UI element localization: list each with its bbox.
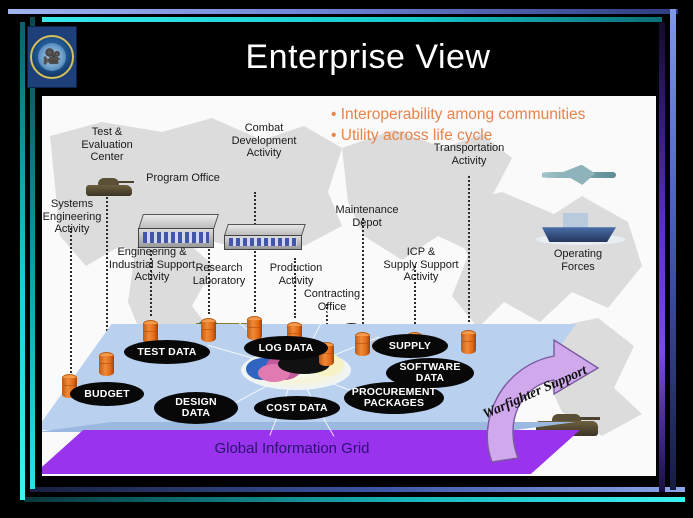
label-line: Center	[70, 151, 144, 164]
label-line: ICP &	[378, 246, 464, 259]
label-line: Research	[182, 262, 256, 275]
naval-ship-icon	[542, 210, 616, 242]
data-pill-procurement-packages: PROCUREMENT PACKAGES	[344, 382, 444, 414]
left-cyan-accent-bar-outer	[20, 22, 25, 500]
label-line: Combat	[222, 122, 306, 135]
label-line: Activity	[428, 155, 510, 168]
data-pill-test-data: TEST DATA	[124, 340, 210, 364]
bullet-list: • Interoperability among communities • U…	[331, 104, 651, 146]
node-label-maintenance-depot: Maintenance Depot	[328, 204, 406, 229]
pill-label-line: DATA	[182, 408, 210, 419]
label-line: Production	[260, 262, 332, 275]
node-label-icp-supply-support-activity: ICP & Supply Support Activity	[378, 246, 464, 284]
connector-combat-development	[254, 192, 256, 312]
label-line: Activity	[378, 271, 464, 284]
pill-label: BUDGET	[84, 389, 130, 400]
program-office-building-icon	[138, 214, 214, 248]
pill-label: SUPPLY	[389, 341, 431, 352]
top-cyan-accent-bar	[42, 17, 662, 22]
tank-icon	[86, 174, 132, 196]
node-label-operating-forces: Operating Forces	[542, 248, 614, 273]
pill-label: TEST DATA	[137, 347, 196, 358]
building-windows	[143, 232, 210, 244]
node-label-combat-development-activity: Combat Development Activity	[222, 122, 306, 160]
label-line: Activity	[260, 275, 332, 288]
connector-transportation	[468, 176, 470, 326]
data-pill-budget: BUDGET	[70, 382, 144, 406]
bullet-dot-icon: •	[331, 106, 336, 123]
pill-label-line: PACKAGES	[364, 398, 424, 409]
bottom-blue-accent-bar	[30, 487, 685, 492]
node-label-contracting-office: Contracting Office	[296, 288, 368, 313]
bullet-item-0: • Interoperability among communities	[331, 104, 651, 125]
pill-label-line: DATA	[416, 373, 444, 384]
data-pill-supply: SUPPLY	[372, 334, 448, 358]
node-label-test-evaluation-center: Test & Evaluation Center	[70, 126, 144, 164]
ship-superstructure	[563, 213, 588, 228]
data-pill-design-data: DESIGN DATA	[154, 392, 238, 424]
label-line: Systems	[42, 198, 110, 211]
building-roof	[138, 214, 219, 229]
label-line: Maintenance	[328, 204, 406, 217]
slide-canvas: 🎥 Enterprise View • Interoperability a	[0, 0, 693, 518]
label-line: Office	[296, 301, 368, 314]
bullet-dot-icon: •	[331, 127, 336, 144]
data-pill-cost-data: COST DATA	[254, 396, 340, 420]
label-line: Activity	[222, 147, 306, 160]
label-line: Depot	[328, 217, 406, 230]
label-line: Development	[222, 135, 306, 148]
connector-systems-engineering	[70, 228, 72, 380]
node-label-research-laboratory: Research Laboratory	[182, 262, 256, 287]
right-purple-accent-bar	[659, 22, 665, 492]
page-title: Enterprise View	[246, 38, 491, 77]
building-windows	[229, 238, 298, 247]
combat-development-building-icon	[224, 224, 302, 250]
data-pill-log-data: LOG DATA	[244, 336, 328, 360]
label-line: Operating	[542, 248, 614, 261]
bottom-cyan-accent-bar	[24, 497, 685, 502]
jet-wing	[561, 165, 595, 185]
ship-hull	[542, 227, 616, 242]
label-line: Activity	[42, 223, 110, 236]
data-cylinder-icon	[99, 352, 114, 378]
label-line: Test &	[70, 126, 144, 139]
slide-title-bar: Enterprise View	[88, 26, 648, 88]
pill-label: COST DATA	[266, 403, 328, 414]
node-label-production-activity: Production Activity	[260, 262, 332, 287]
label-line: Engineering	[42, 211, 110, 224]
label-line: Forces	[542, 261, 614, 274]
bullet-text: Interoperability among communities	[341, 106, 586, 123]
label-line: Laboratory	[182, 275, 256, 288]
right-blue-accent-bar	[670, 9, 676, 490]
label-line: Contracting	[296, 288, 368, 301]
node-label-systems-engineering-activity: Systems Engineering Activity	[42, 198, 110, 236]
node-label-program-office: Program Office	[134, 172, 232, 185]
label-line: Program Office	[134, 172, 232, 185]
jet-aircraft-icon	[542, 162, 616, 188]
label-line: Evaluation	[70, 139, 144, 152]
department-of-defense-seal-icon: 🎥	[27, 26, 77, 88]
node-label-transportation-activity: Transportation Activity	[428, 142, 510, 167]
top-blue-accent-bar	[8, 9, 678, 14]
label-line: Supply Support	[378, 259, 464, 272]
slide-body: • Interoperability among communities • U…	[42, 96, 656, 476]
label-line: Transportation	[428, 142, 510, 155]
data-cylinder-icon	[201, 318, 216, 344]
data-cylinder-icon	[355, 332, 370, 358]
warfighter-support-arrow: Warfighter Support	[462, 334, 652, 474]
tank-hull	[86, 185, 132, 196]
pill-label: LOG DATA	[259, 343, 314, 354]
eagle-icon: 🎥	[43, 50, 62, 65]
label-line: Engineering &	[104, 246, 200, 259]
building-roof	[224, 224, 306, 236]
